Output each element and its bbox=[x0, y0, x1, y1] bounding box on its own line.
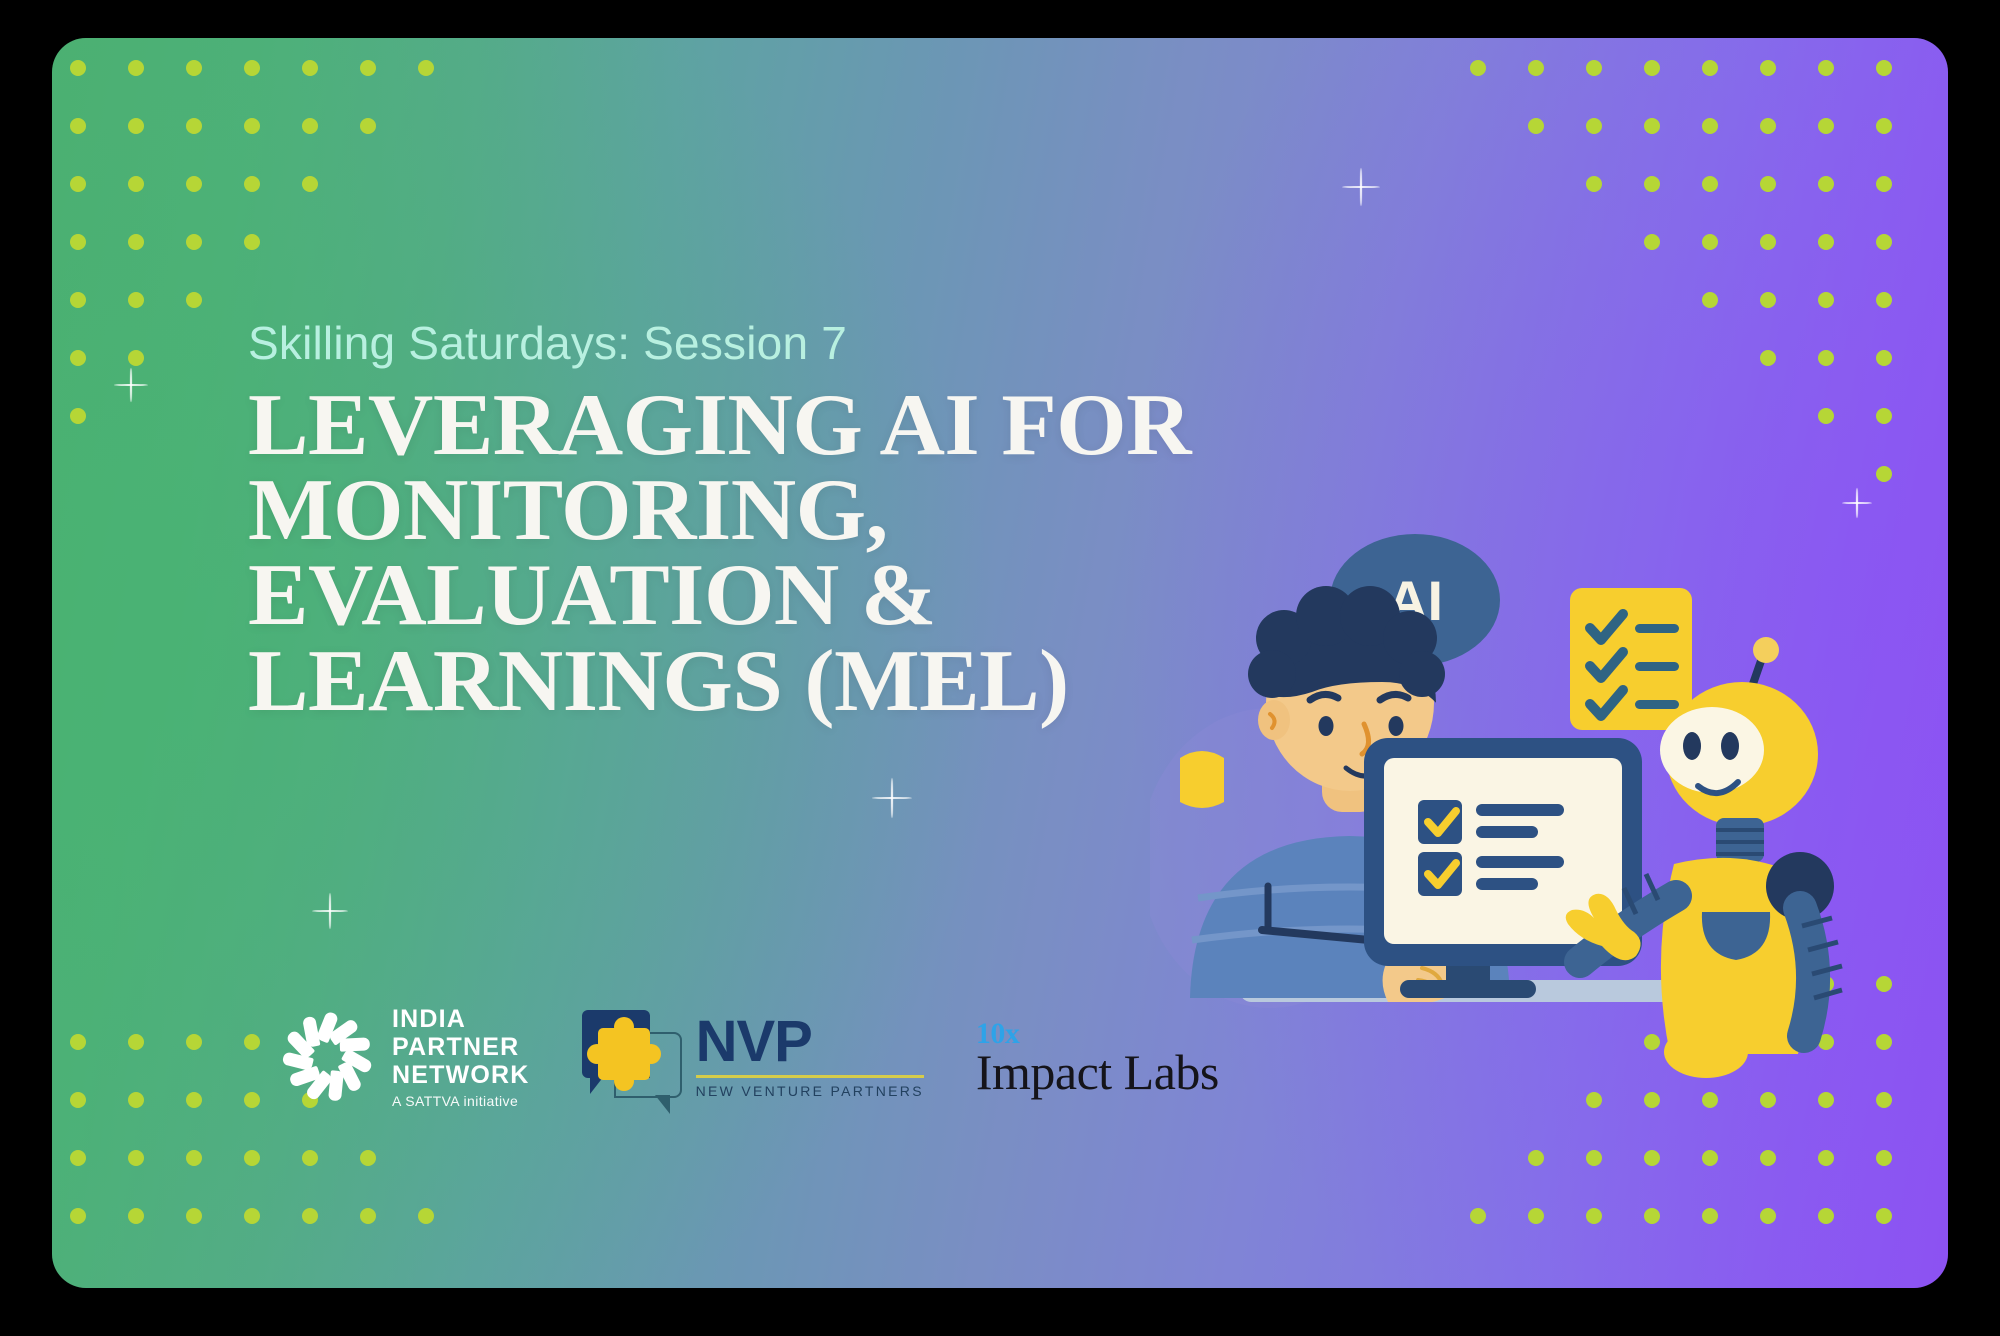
headline-line-1: LEVERAGING AI FOR bbox=[248, 383, 1340, 468]
logo-india-partner-network: INDIA PARTNER NETWORK A SATTVA initiativ… bbox=[282, 1005, 530, 1110]
sparkle-icon-2 bbox=[1342, 168, 1380, 206]
slide-text-block: Skilling Saturdays: Session 7 LEVERAGING… bbox=[248, 318, 1308, 724]
page-title: LEVERAGING AI FOR MONITORING, EVALUATION… bbox=[248, 383, 1340, 724]
nvp-wordmark: NVP NEW VENTURE PARTNERS bbox=[696, 1016, 924, 1099]
nvp-divider bbox=[696, 1075, 924, 1078]
ipn-circular-mark-icon bbox=[282, 1012, 374, 1104]
sparkle-icon-4 bbox=[312, 893, 348, 929]
dot-pattern-top-right bbox=[1470, 60, 1934, 582]
ipn-line-1: INDIA bbox=[392, 1005, 530, 1033]
partner-logo-row: INDIA PARTNER NETWORK A SATTVA initiativ… bbox=[282, 1005, 1219, 1110]
impact-labs-name: Impact Labs bbox=[976, 1047, 1219, 1097]
ipn-line-3: NETWORK bbox=[392, 1061, 530, 1089]
sparkle-icon-1 bbox=[114, 368, 148, 402]
sparkle-icon-5 bbox=[872, 778, 912, 818]
presentation-slide: Skilling Saturdays: Session 7 LEVERAGING… bbox=[52, 38, 1948, 1288]
nvp-puzzle-bubble-icon bbox=[582, 1006, 686, 1110]
nvp-acronym: NVP bbox=[696, 1016, 924, 1068]
logo-new-venture-partners: NVP NEW VENTURE PARTNERS bbox=[582, 1006, 924, 1110]
session-eyebrow: Skilling Saturdays: Session 7 bbox=[248, 318, 1308, 369]
logo-impact-labs: 10x Impact Labs bbox=[976, 1019, 1219, 1097]
headline-line-3: EVALUATION & bbox=[248, 553, 1340, 638]
ipn-tagline: A SATTVA initiative bbox=[392, 1094, 530, 1110]
ipn-line-2: PARTNER bbox=[392, 1033, 530, 1061]
headline-line-2: MONITORING, bbox=[248, 468, 1340, 553]
ipn-wordmark: INDIA PARTNER NETWORK A SATTVA initiativ… bbox=[392, 1005, 530, 1110]
headline-line-4: LEARNINGS (MEL) bbox=[248, 639, 1340, 724]
nvp-tagline: NEW VENTURE PARTNERS bbox=[696, 1083, 924, 1099]
checklist-card bbox=[1570, 588, 1692, 730]
sparkle-icon-3 bbox=[1842, 488, 1872, 518]
